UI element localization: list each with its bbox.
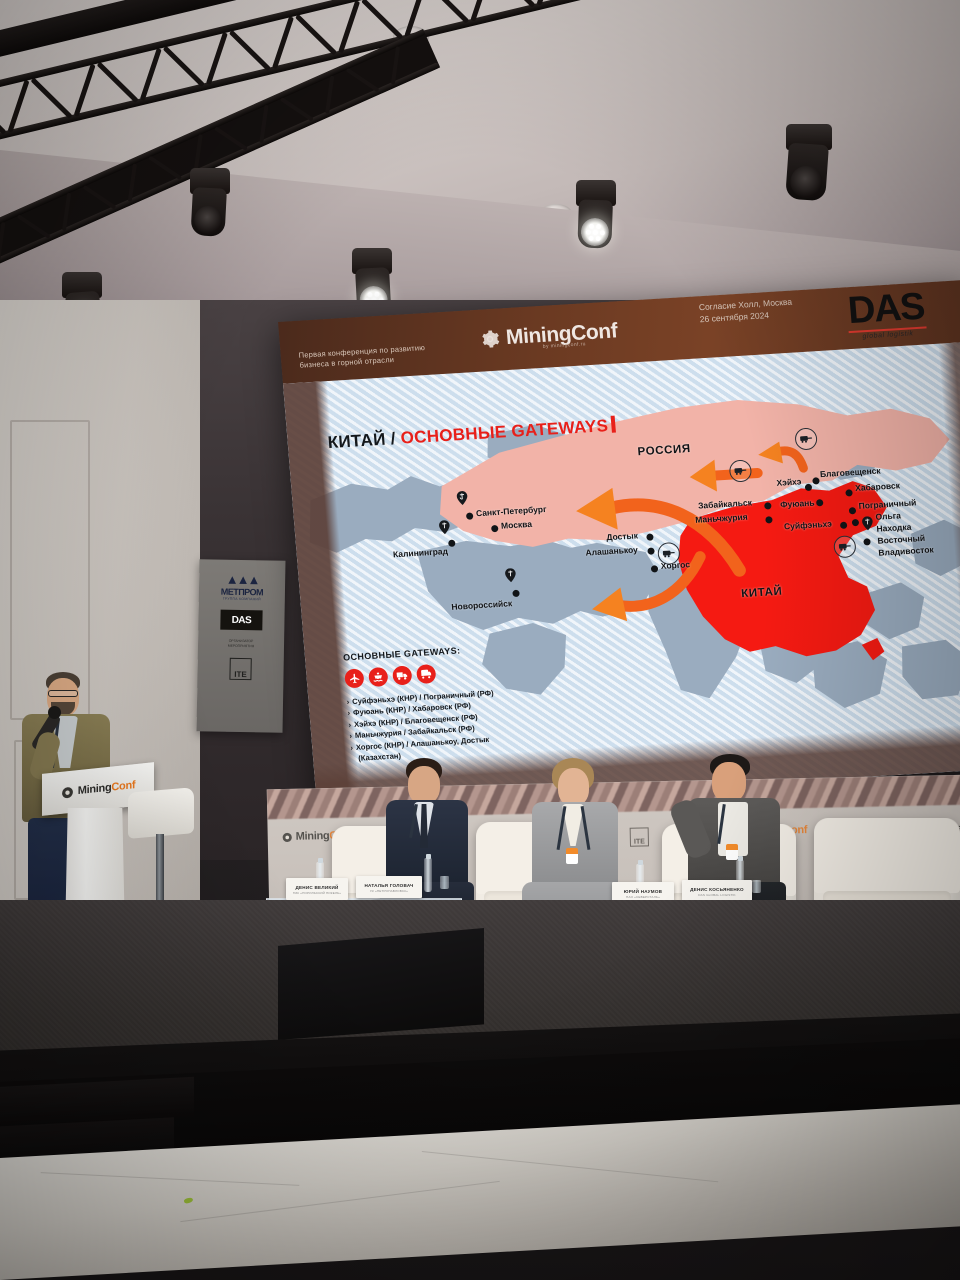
gear-icon [282, 831, 293, 842]
conference-stage-photo: ▲▲▲ МЕТПРОМ ГРУППА КОМПАНИЙ DAS ОРГАНИЗА… [0, 0, 960, 1280]
port-pin-kaliningrad [438, 520, 450, 535]
head [558, 768, 589, 806]
gear-icon [61, 785, 74, 799]
head [712, 762, 746, 802]
head [408, 766, 440, 804]
metprom-sub: ГРУППА КОМПАНИЙ [221, 597, 263, 602]
water-glass [752, 880, 761, 893]
map-legend: ОСНОВНЫЕ GATEWAYS: Суйф [343, 644, 499, 765]
city-label-nakhodka: Находка [876, 522, 912, 534]
water-bottle [424, 858, 432, 892]
city-label-khorgos: Хоргос [660, 559, 690, 571]
nameplate-role: ГМК «НОРИЛЬСКИЙ НИКЕЛЬ» [293, 891, 341, 895]
train-icon [799, 434, 814, 445]
title-country: КИТАЙ [327, 430, 386, 452]
route-arrow-southwest [579, 544, 715, 632]
venue-date-block: Согласие Холл, Москва 26 сентября 2024 [698, 296, 793, 326]
badge [726, 844, 738, 860]
plane-icon [344, 668, 364, 688]
train-icon [733, 466, 748, 477]
train-icon [661, 548, 676, 559]
ship-icon [368, 667, 388, 687]
port-pin-vostochny [861, 516, 873, 531]
badge [566, 848, 578, 864]
legend-icon-row [344, 661, 492, 689]
port-pin-st-petersburg [456, 491, 468, 506]
train-icon [416, 664, 436, 684]
ite-logo-small: ITE [229, 657, 251, 679]
city-label-olga: Ольга [875, 510, 901, 522]
nameplate-role: ПАО «СЕВЕРСТАЛЬ» [626, 895, 660, 899]
conference-tagline: Первая конференция по развитию бизнеса в… [298, 340, 479, 371]
port-pin-novorossiysk [505, 568, 517, 583]
city-label-moscow: Москва [501, 519, 533, 531]
nameplate: ДЕНИС КОСЬЯНЕНКО DAS GLOBAL LOGISTIK [682, 880, 752, 902]
title-separator: / [385, 429, 402, 449]
nameplate: ДЕНИС ВЕЛИКИЙ ГМК «НОРИЛЬСКИЙ НИКЕЛЬ» [286, 878, 348, 900]
presentation-screen: Первая конференция по развитию бизнеса в… [278, 280, 960, 811]
map-canvas: КИТАЙ / ОСНОВНЫЕ GATEWAYS РОССИЯ КИТАЙ [283, 342, 960, 811]
legend-items: Суйфэньхэ (КНР) / Пограничный (РФ) Фуюан… [346, 687, 498, 764]
das-logo: DAS global logistik [820, 287, 954, 343]
nameplate-name: НАТАЛЬЯ ГОЛОВАЧ [364, 883, 413, 888]
water-glass [440, 876, 449, 889]
podium-brand: MiningConf [78, 779, 136, 797]
nameplate: НАТАЛЬЯ ГОЛОВАЧ УК «ПЕТРОПАВЛОВСК» [356, 876, 422, 898]
miningconf-logo-sub: by miningconf.ru [543, 341, 587, 350]
sponsor-board: ▲▲▲ МЕТПРОМ ГРУППА КОМПАНИЙ DAS ОРГАНИЗА… [197, 559, 286, 732]
nameplate-name: ДЕНИС КОСЬЯНЕНКО [690, 887, 744, 892]
nameplate-role: УК «ПЕТРОПАВЛОВСК» [370, 889, 408, 893]
map-label-china: КИТАЙ [741, 586, 783, 600]
gear-icon [479, 329, 501, 350]
stage-monitor-speaker [278, 928, 484, 1040]
nameplate-name: ЮРИЙ НАУМОВ [624, 889, 662, 894]
organizer-line-2: МЕРОПРИЯТИЯ [228, 644, 255, 649]
truck-icon [392, 665, 412, 685]
train-icon [837, 541, 852, 552]
city-label-dostyk: Достык [606, 530, 638, 542]
glasses-icon [48, 690, 78, 697]
microphone-head-icon [48, 706, 61, 719]
das-logo-small: DAS [220, 610, 262, 631]
nameplate-name: ДЕНИС ВЕЛИКИЙ [295, 885, 338, 890]
das-wordmark: DAS [820, 287, 953, 331]
nameplate-role: DAS GLOBAL LOGISTIK [698, 893, 735, 897]
city-label-heihe: Хэйхэ [776, 476, 802, 487]
city-label-fuyuan: Фуюань [780, 498, 815, 510]
